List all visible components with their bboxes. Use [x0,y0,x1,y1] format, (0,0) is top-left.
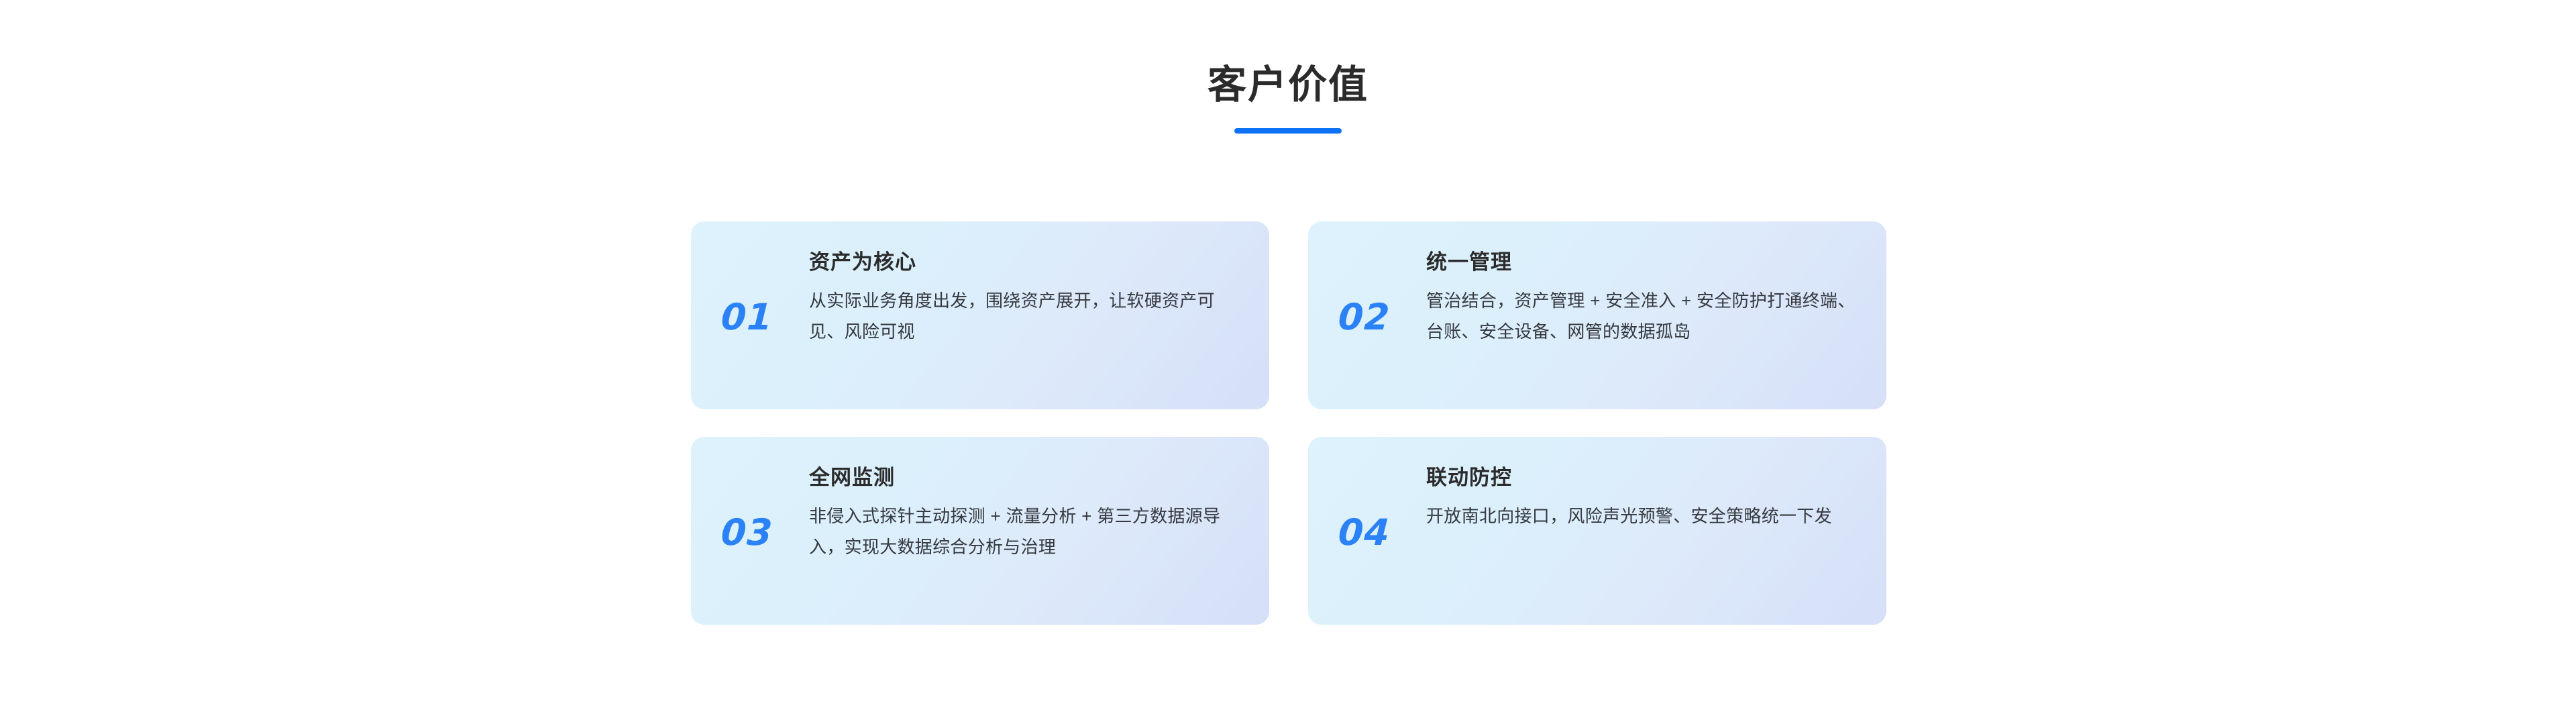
card-number-badge: 04 [1338,437,1430,551]
value-cards-grid: 01 资产为核心 从实际业务角度出发，围绕资产展开，让软硬资产可见、风险可视 0… [691,221,1886,625]
card-number-badge: 03 [720,437,812,551]
section-header: 客户价值 [0,64,2576,134]
card-description: 从实际业务角度出发，围绕资产展开，让软硬资产可见、风险可视 [809,285,1246,348]
card-title: 资产为核心 [809,250,1246,274]
card-text-block: 联动防控 开放南北向接口，风险声光预警、安全策略统一下发 [1426,437,1864,531]
card-title: 联动防控 [1426,465,1864,490]
value-card-04[interactable]: 04 联动防控 开放南北向接口，风险声光预警、安全策略统一下发 [1308,437,1886,625]
card-content: 01 资产为核心 从实际业务角度出发，围绕资产展开，让软硬资产可见、风险可视 [723,221,1246,409]
value-card-03[interactable]: 03 全网监测 非侵入式探针主动探测 + 流量分析 + 第三方数据源导入，实现大… [691,437,1269,625]
value-card-01[interactable]: 01 资产为核心 从实际业务角度出发，围绕资产展开，让软硬资产可见、风险可视 [691,221,1269,409]
card-description: 管治结合，资产管理 + 安全准入 + 安全防护打通终端、台账、安全设备、网管的数… [1426,285,1864,348]
value-card-02[interactable]: 02 统一管理 管治结合，资产管理 + 安全准入 + 安全防护打通终端、台账、安… [1308,221,1886,409]
card-number-badge: 01 [720,221,812,336]
card-title: 统一管理 [1426,250,1864,274]
card-content: 02 统一管理 管治结合，资产管理 + 安全准入 + 安全防护打通终端、台账、安… [1340,221,1864,409]
card-description: 开放南北向接口，风险声光预警、安全策略统一下发 [1426,501,1864,531]
card-description: 非侵入式探针主动探测 + 流量分析 + 第三方数据源导入，实现大数据综合分析与治… [809,501,1246,563]
card-content: 03 全网监测 非侵入式探针主动探测 + 流量分析 + 第三方数据源导入，实现大… [723,437,1246,625]
card-text-block: 资产为核心 从实际业务角度出发，围绕资产展开，让软硬资产可见、风险可视 [809,221,1246,348]
card-text-block: 统一管理 管治结合，资产管理 + 安全准入 + 安全防护打通终端、台账、安全设备… [1426,221,1864,348]
page-title: 客户价值 [0,64,2576,107]
card-title: 全网监测 [809,465,1246,490]
card-number-badge: 02 [1338,221,1430,336]
card-content: 04 联动防控 开放南北向接口，风险声光预警、安全策略统一下发 [1340,437,1864,625]
title-underline-accent [1234,128,1342,134]
card-text-block: 全网监测 非侵入式探针主动探测 + 流量分析 + 第三方数据源导入，实现大数据综… [809,437,1246,563]
